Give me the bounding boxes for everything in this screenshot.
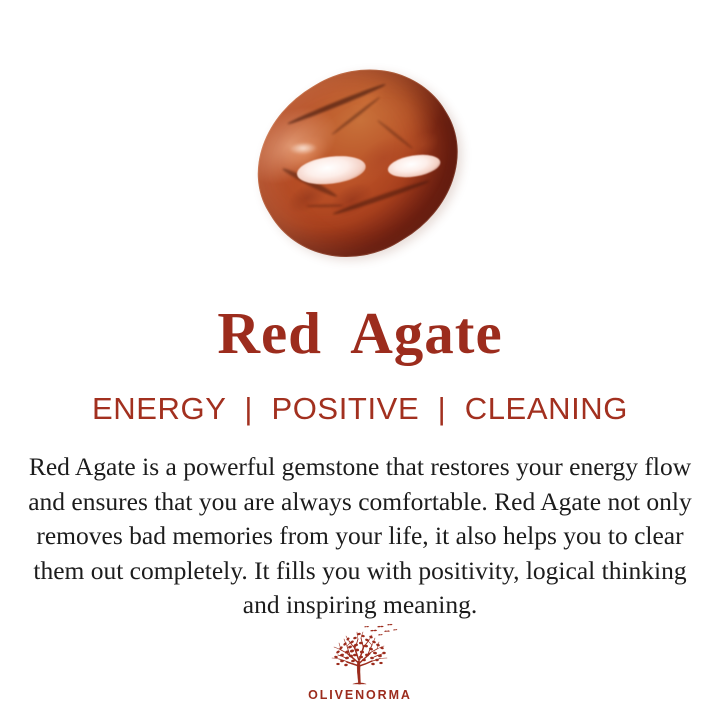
gemstone-body: [225, 34, 492, 292]
gemstone-rim-light: [225, 34, 492, 292]
product-image-area: [0, 0, 720, 285]
brand-logo: OLIVENORMA: [0, 622, 720, 702]
brand-wordmark: OLIVENORMA: [308, 688, 412, 702]
birds: [364, 624, 397, 636]
tree-with-birds-icon: [317, 622, 403, 686]
red-agate-stone-image: [248, 68, 468, 260]
product-info-card: Red Agate ENERGY | POSITIVE | CLEANING R…: [0, 0, 720, 720]
keyword-subtitle: ENERGY | POSITIVE | CLEANING: [0, 390, 720, 428]
product-description: Red Agate is a powerful gemstone that re…: [24, 450, 696, 623]
page-title: Red Agate: [0, 298, 720, 368]
